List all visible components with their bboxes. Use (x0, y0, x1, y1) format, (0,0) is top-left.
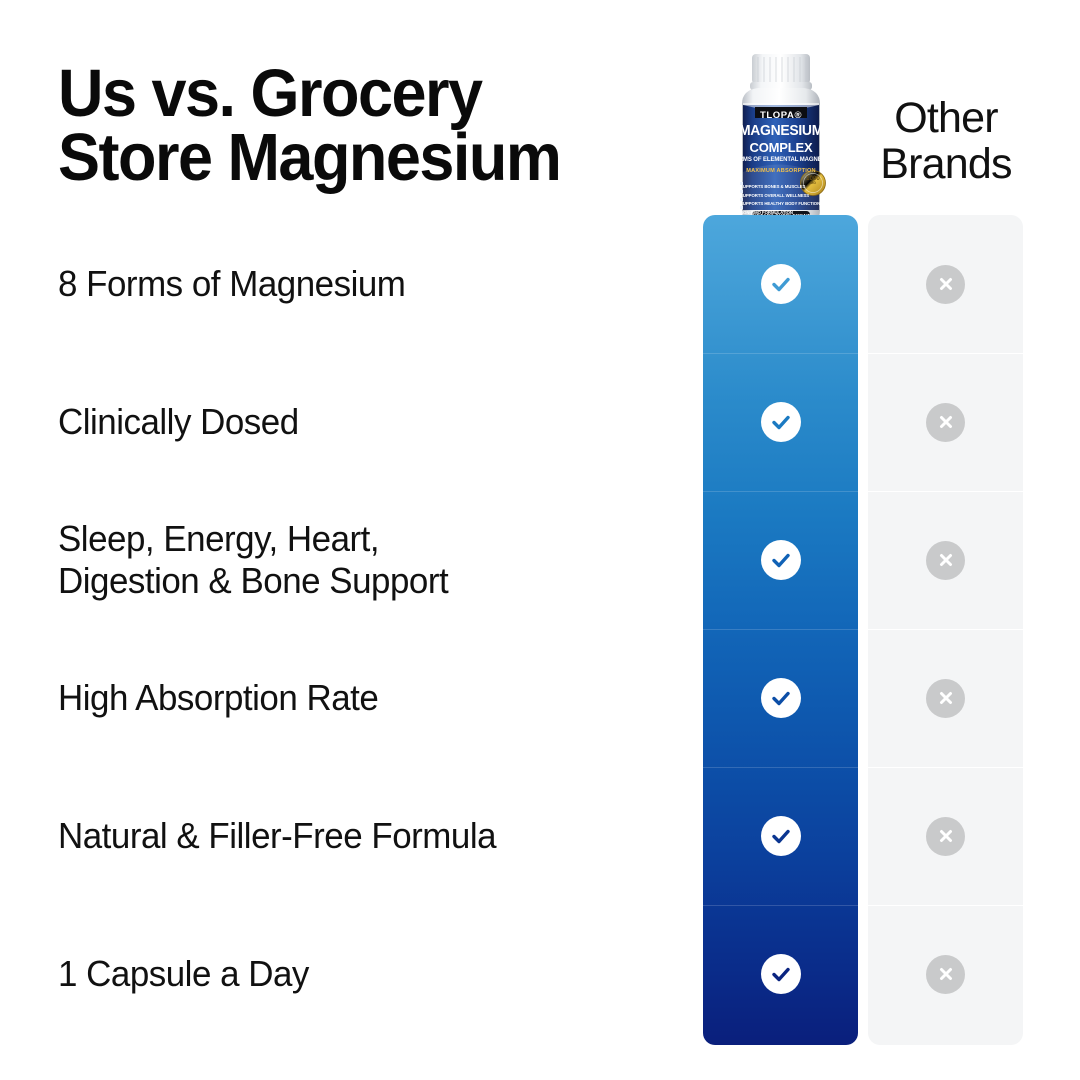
bottle-illustration (722, 52, 840, 230)
feature-label: High Absorption Rate (58, 677, 378, 719)
check-icon (761, 816, 801, 856)
feature-label: Sleep, Energy, Heart, Digestion & Bone S… (58, 518, 448, 603)
other-brands-cell (868, 491, 1023, 629)
cross-icon (926, 679, 965, 718)
our-product-cell (703, 629, 858, 767)
cross-icon (926, 817, 965, 856)
feature-label: 1 Capsule a Day (58, 953, 309, 995)
cross-icon (926, 403, 965, 442)
our-product-cell (703, 767, 858, 905)
our-product-cell (703, 905, 858, 1043)
other-brands-column (868, 215, 1023, 1045)
feature-row: Sleep, Energy, Heart, Digestion & Bone S… (58, 491, 688, 629)
feature-row: High Absorption Rate (58, 629, 688, 767)
check-icon (761, 954, 801, 994)
our-product-cell (703, 353, 858, 491)
other-brands-cell (868, 905, 1023, 1043)
other-brands-cell (868, 767, 1023, 905)
check-icon (761, 264, 801, 304)
feature-row: 1 Capsule a Day (58, 905, 688, 1043)
feature-row: Natural & Filler-Free Formula (58, 767, 688, 905)
page-title: Us vs. Grocery Store Magnesium (58, 62, 660, 191)
other-brands-cell (868, 629, 1023, 767)
cross-icon (926, 541, 965, 580)
other-brands-cell (868, 353, 1023, 491)
our-product-cell (703, 215, 858, 353)
our-product-cell (703, 491, 858, 629)
product-bottle-image: TLOPA® MAGNESIUM COMPLEX 8 FORMS OF ELEM… (722, 52, 840, 230)
other-brands-column-header: Other Brands (868, 96, 1024, 187)
feature-label: Clinically Dosed (58, 401, 299, 443)
other-brands-cell (868, 215, 1023, 353)
check-icon (761, 540, 801, 580)
check-icon (761, 678, 801, 718)
feature-label: Natural & Filler-Free Formula (58, 815, 496, 857)
cross-icon (926, 955, 965, 994)
our-product-column (703, 215, 858, 1045)
check-icon (761, 402, 801, 442)
feature-row: 8 Forms of Magnesium (58, 215, 688, 353)
feature-label: 8 Forms of Magnesium (58, 263, 405, 305)
cross-icon (926, 265, 965, 304)
feature-row: Clinically Dosed (58, 353, 688, 491)
feature-label-column: 8 Forms of Magnesium Clinically Dosed Sl… (58, 215, 688, 1045)
